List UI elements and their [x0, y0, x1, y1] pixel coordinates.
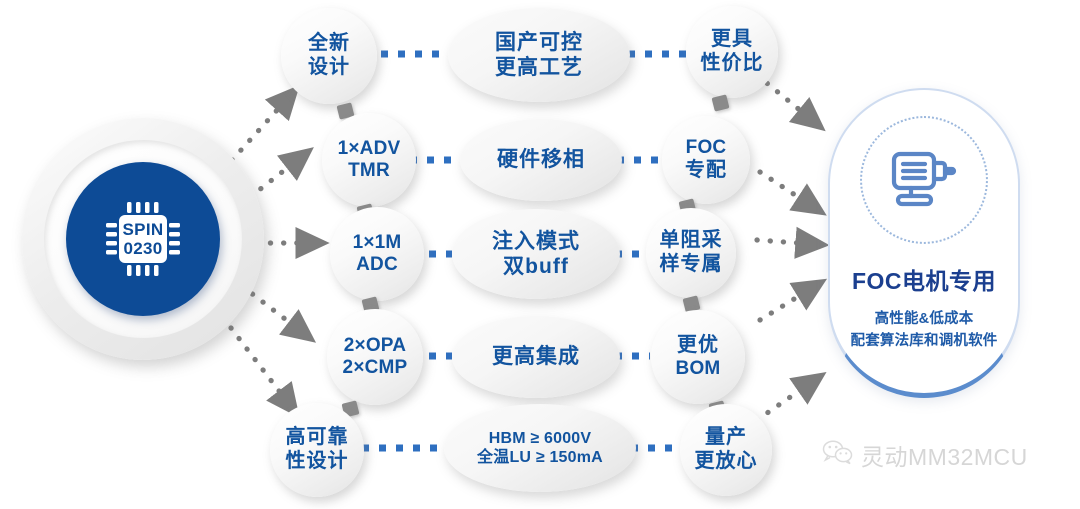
pill-label-line2: 更高工艺 — [495, 55, 583, 80]
node-label-line2: 性设计 — [286, 450, 349, 474]
panel-subtitle-line1: 高性能&低成本 — [830, 308, 1018, 330]
hub-core: SPIN 0230 — [66, 162, 220, 316]
node-label-line2: 2×CMP — [343, 357, 408, 379]
pill-label-line1: 国产可控 — [495, 30, 583, 55]
node-better-bom[interactable]: 更优 BOM — [651, 310, 745, 404]
foc-summary-panel: FOC电机专用 高性能&低成本 配套算法库和调机软件 — [828, 88, 1020, 398]
pill-label-line2: 全温LU ≥ 150mA — [477, 448, 603, 467]
node-label-line1: 全新 — [308, 32, 350, 56]
electric-motor-icon — [887, 145, 961, 216]
node-label-line1: 单阻采 — [660, 229, 723, 253]
node-label-line1: 1×ADV — [338, 138, 401, 160]
node-label-line1: 更具 — [701, 28, 764, 52]
node-label-line1: 2×OPA — [343, 335, 408, 357]
node-mass-production-confidence[interactable]: 量产 更放心 — [680, 404, 772, 496]
diagram-canvas: SPIN 0230 全新 设计 1×ADV TMR 1×1M ADC 2×OPA… — [0, 0, 1080, 509]
pill-label-line2: 双buff — [492, 254, 580, 279]
pill-hardware-phase-shift[interactable]: 硬件移相 — [460, 119, 622, 201]
wechat-icon — [822, 439, 854, 471]
node-label-line2: 专配 — [685, 159, 727, 183]
node-label-line2: ADC — [353, 254, 402, 276]
node-adv-timer[interactable]: 1×ADV TMR — [322, 113, 416, 207]
node-label-line1: 更优 — [676, 334, 721, 358]
node-opa-cmp[interactable]: 2×OPA 2×CMP — [327, 309, 423, 405]
node-link-nub — [712, 94, 730, 111]
node-label-line1: 1×1M — [353, 232, 402, 254]
pill-label-line1: HBM ≥ 6000V — [477, 429, 603, 448]
node-high-reliability-design[interactable]: 高可靠 性设计 — [270, 403, 364, 497]
node-label-line2: 更放心 — [695, 450, 758, 474]
watermark: 灵动MM32MCU — [822, 438, 1028, 472]
pill-label-line1: 注入模式 — [492, 229, 580, 254]
node-label-line1: 高可靠 — [286, 426, 349, 450]
node-label-line2: BOM — [676, 358, 721, 380]
node-label-line1: FOC — [685, 137, 727, 159]
node-label-line2: 性价比 — [701, 52, 764, 76]
motor-icon-ring — [860, 116, 988, 244]
node-label-line1: 量产 — [695, 426, 758, 450]
pill-label-line1: 硬件移相 — [497, 147, 585, 172]
node-label-line2: TMR — [338, 160, 401, 182]
node-single-shunt-sampling[interactable]: 单阻采 样专属 — [646, 208, 736, 298]
pill-higher-integration[interactable]: 更高集成 — [452, 316, 620, 398]
microchip-icon: SPIN 0230 — [97, 193, 189, 285]
panel-subtitle: 高性能&低成本 配套算法库和调机软件 — [830, 308, 1018, 353]
node-brand-new-design[interactable]: 全新 设计 — [281, 8, 377, 104]
pill-hbm-lu-spec[interactable]: HBM ≥ 6000V 全温LU ≥ 150mA — [444, 404, 636, 492]
panel-title: FOC电机专用 — [830, 262, 1018, 296]
pill-injection-mode-dual-buff[interactable]: 注入模式 双buff — [452, 209, 620, 299]
central-hub: SPIN 0230 — [22, 118, 264, 360]
node-label-line2: 样专属 — [660, 253, 723, 277]
panel-subtitle-line2: 配套算法库和调机软件 — [830, 330, 1018, 352]
node-adc[interactable]: 1×1M ADC — [330, 207, 424, 301]
node-better-cost-performance[interactable]: 更具 性价比 — [686, 6, 778, 98]
node-foc-dedicated[interactable]: FOC 专配 — [662, 116, 750, 204]
watermark-text: 灵动MM32MCU — [861, 438, 1028, 472]
pill-domestic-controllable[interactable]: 国产可控 更高工艺 — [448, 8, 630, 102]
pill-label-line1: 更高集成 — [492, 344, 580, 369]
node-label-line2: 设计 — [308, 56, 350, 80]
